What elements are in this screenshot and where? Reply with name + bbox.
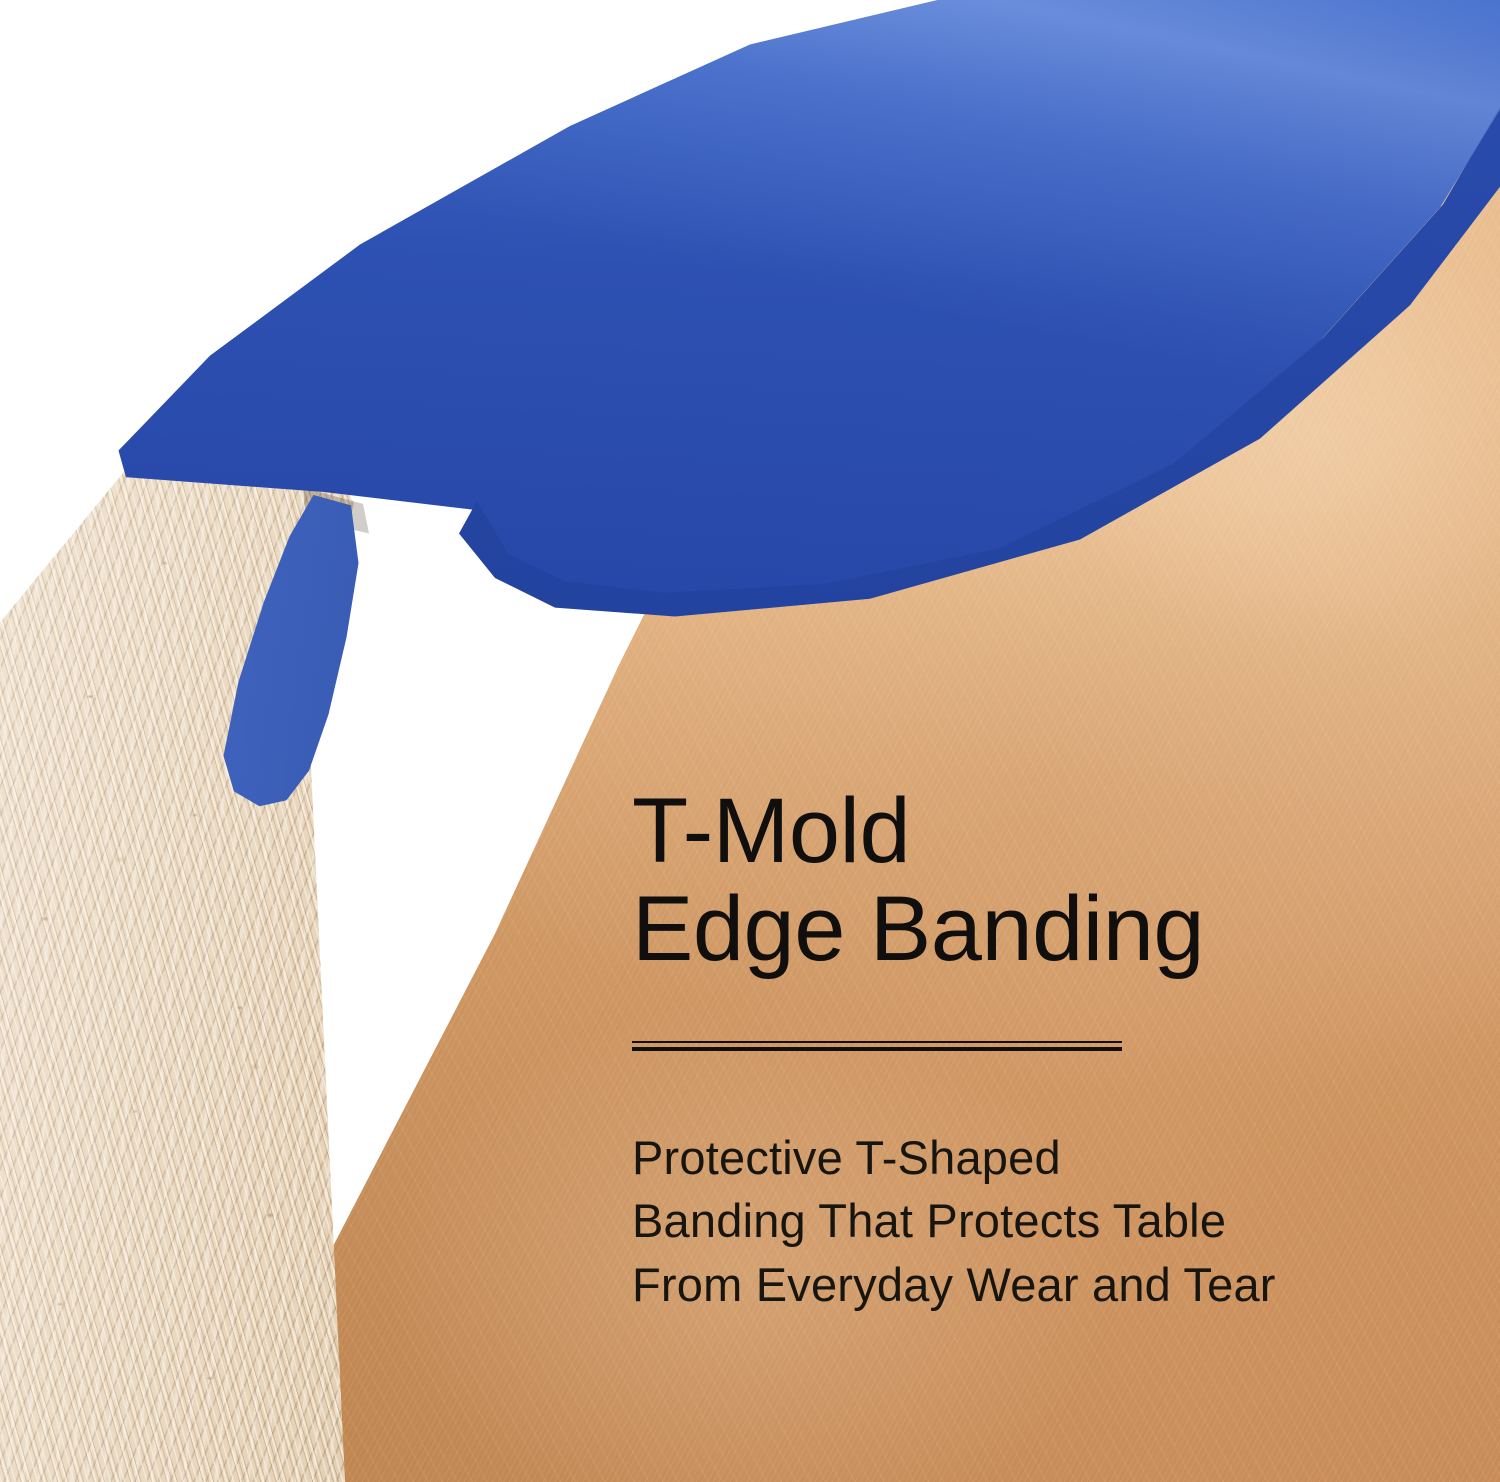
subcopy: Protective T-Shaped Banding That Protect… [632, 1126, 1422, 1316]
divider-rule [632, 1041, 1122, 1050]
headline: T-Mold Edge Banding [632, 782, 1422, 979]
product-feature-image: T-Mold Edge Banding Protective T-Shaped … [0, 0, 1500, 1482]
marketing-copy-block: T-Mold Edge Banding Protective T-Shaped … [632, 782, 1422, 1316]
